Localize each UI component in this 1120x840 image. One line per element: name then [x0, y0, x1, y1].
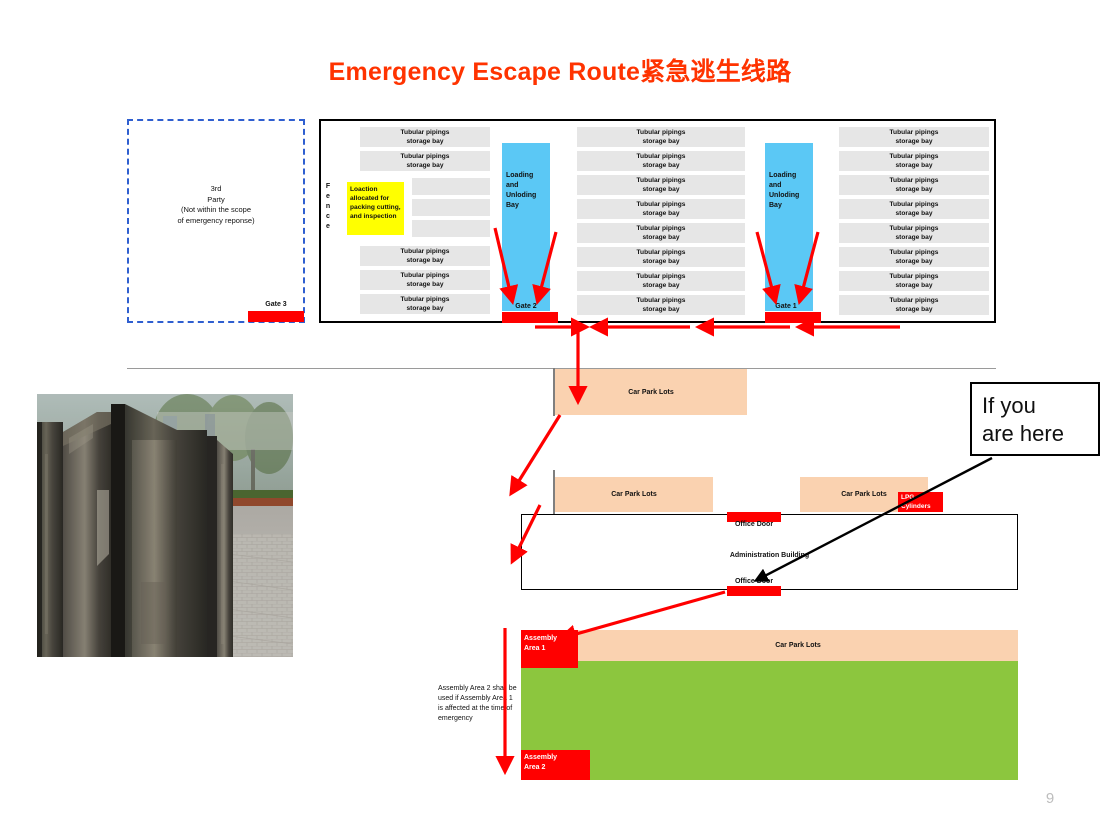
car-park-middle-left: Car Park Lots [555, 477, 713, 512]
you-are-here-callout: If you are here [970, 382, 1100, 456]
third-party-label: 3rd Party (Not within the scope of emerg… [127, 184, 305, 226]
car-park-label: Car Park Lots [841, 491, 887, 498]
fence-label: F e n c e [322, 182, 334, 232]
car-park-label: Car Park Lots [628, 389, 674, 396]
bay-label-line2: storage bay [895, 281, 932, 290]
assembly-area-1: Assembly Area 1 [521, 630, 578, 668]
storage-bay: Tubular pipings storage bay [360, 270, 490, 290]
bay-label-line1: Tubular pipings [401, 128, 450, 137]
bay-label-line1: Tubular pipings [890, 200, 939, 209]
car-park-bottom: Car Park Lots [578, 630, 1018, 661]
bay-label-line1: Tubular pipings [637, 200, 686, 209]
storage-bay: Tubular pipings storage bay [360, 151, 490, 171]
bay-label-line1: Tubular pipings [890, 152, 939, 161]
assembly-area-note: Assembly Area 2 shall be used if Assembl… [438, 684, 518, 724]
storage-bay: Tubular pipings storage bay [360, 127, 490, 147]
loading-bay-line4: Bay [506, 201, 546, 211]
bay-label-line2: storage bay [642, 305, 679, 314]
third-party-line-4: of emergency reponse) [127, 216, 305, 227]
bay-label-line2: storage bay [895, 161, 932, 170]
storage-bay: Tubular pipings storage bay [839, 151, 989, 171]
bay-label-line1: Tubular pipings [637, 296, 686, 305]
storage-bay: Tubular pipings storage bay [360, 294, 490, 314]
bay-label-line1: Tubular pipings [401, 271, 450, 280]
bay-label-line1: Tubular pipings [637, 152, 686, 161]
callout-line-2: are here [982, 420, 1098, 448]
bay-label-line1: Tubular pipings [890, 128, 939, 137]
bay-label-line1: Tubular pipings [890, 176, 939, 185]
gate-2-label: Gate 2 [502, 303, 550, 310]
bay-label-line1: Tubular pipings [401, 152, 450, 161]
car-park-label: Car Park Lots [611, 491, 657, 498]
loading-bay-line2: and [506, 181, 546, 191]
bay-label-line1: Tubular pipings [637, 176, 686, 185]
storage-bay: Tubular pipings storage bay [577, 127, 745, 147]
fence-letter-5: e [322, 222, 334, 232]
bay-label-line2: storage bay [895, 305, 932, 314]
bay-label-line2: storage bay [895, 185, 932, 194]
storage-bay: Tubular pipings storage bay [577, 199, 745, 219]
third-party-line-3: (Not within the scope [127, 205, 305, 216]
bay-label-line2: storage bay [642, 161, 679, 170]
bay-label-line2: storage bay [642, 281, 679, 290]
bay-label-line2: storage bay [406, 137, 443, 146]
assembly2-line1: Assembly [524, 753, 590, 763]
bay-label-line1: Tubular pipings [401, 295, 450, 304]
storage-bay: Tubular pipings storage bay [577, 175, 745, 195]
fence-letter-1: F [322, 182, 334, 192]
office-door-lower-label: Office Door [718, 578, 790, 585]
bay-label-line2: storage bay [895, 257, 932, 266]
lpg-cylinders-area: LPG Cylinders [898, 492, 943, 512]
storage-bay: Tubular pipings storage bay [839, 199, 989, 219]
car-park-top: Car Park Lots [555, 369, 747, 415]
lpg-line2: Cylinders [901, 502, 941, 511]
packing-cutting-inspection-zone: Loaction allocated for packing cutting, … [347, 182, 404, 235]
site-entrance-photo [37, 394, 293, 657]
loading-unloading-bay-2: Loading and Unloding Bay [502, 143, 550, 311]
gate-2-marker [502, 312, 558, 323]
storage-bay-blank [412, 220, 490, 237]
loading-bay-line1: Loading [506, 171, 546, 181]
bay-label-line2: storage bay [642, 209, 679, 218]
assembly1-line1: Assembly [524, 634, 578, 644]
loading-unloading-bay-1: Loading and Unloding Bay [765, 143, 813, 311]
gate-1-marker [765, 312, 821, 323]
car-park-label: Car Park Lots [775, 642, 821, 649]
bay-label-line2: storage bay [406, 280, 443, 289]
storage-bay: Tubular pipings storage bay [839, 175, 989, 195]
storage-bay: Tubular pipings storage bay [577, 295, 745, 315]
fence-letter-3: n [322, 202, 334, 212]
storage-bay: Tubular pipings storage bay [839, 127, 989, 147]
bay-label-line1: Tubular pipings [401, 247, 450, 256]
bay-label-line1: Tubular pipings [890, 272, 939, 281]
storage-bay: Tubular pipings storage bay [577, 247, 745, 267]
gate-3-label: Gate 3 [244, 301, 308, 308]
bay-label-line1: Tubular pipings [637, 272, 686, 281]
bay-label-line2: storage bay [642, 185, 679, 194]
storage-bay-blank [412, 178, 490, 195]
bay-label-line1: Tubular pipings [890, 248, 939, 257]
bay-label-line2: storage bay [406, 304, 443, 313]
bay-label-line2: storage bay [642, 233, 679, 242]
assembly-area-2: Assembly Area 2 [521, 750, 590, 780]
assembly2-line2: Area 2 [524, 763, 590, 773]
bay-label-line2: storage bay [895, 209, 932, 218]
office-door-upper-label: Office Door [718, 521, 790, 528]
bay-label-line2: storage bay [895, 233, 932, 242]
storage-bay: Tubular pipings storage bay [839, 271, 989, 291]
storage-bay: Tubular pipings storage bay [839, 295, 989, 315]
loading-bay-line3: Unloding [769, 191, 809, 201]
storage-bay: Tubular pipings storage bay [839, 247, 989, 267]
storage-bay-blank [412, 199, 490, 216]
storage-bay: Tubular pipings storage bay [577, 223, 745, 243]
lpg-line1: LPG [901, 493, 941, 502]
storage-bay: Tubular pipings storage bay [577, 151, 745, 171]
bay-label-line2: storage bay [642, 257, 679, 266]
storage-bay: Tubular pipings storage bay [839, 223, 989, 243]
bay-label-line1: Tubular pipings [637, 128, 686, 137]
administration-building-label: Administration Building [521, 552, 1018, 559]
grass-field [521, 660, 1018, 780]
bay-label-line2: storage bay [642, 137, 679, 146]
loading-bay-line2: and [769, 181, 809, 191]
page-title: Emergency Escape Route紧急逃生线路 [0, 52, 1120, 88]
third-party-line-2: Party [127, 195, 305, 206]
loading-bay-line3: Unloding [506, 191, 546, 201]
page-number: 9 [1030, 790, 1070, 807]
storage-bay: Tubular pipings storage bay [577, 271, 745, 291]
bay-label-line2: storage bay [406, 256, 443, 265]
third-party-line-1: 3rd [127, 184, 305, 195]
storage-bay: Tubular pipings storage bay [360, 246, 490, 266]
loading-bay-line4: Bay [769, 201, 809, 211]
bay-label-line2: storage bay [406, 161, 443, 170]
loading-bay-line1: Loading [769, 171, 809, 181]
assembly1-line2: Area 1 [524, 644, 578, 654]
bay-label-line1: Tubular pipings [637, 248, 686, 257]
fence-letter-4: c [322, 212, 334, 222]
bay-label-line1: Tubular pipings [637, 224, 686, 233]
office-door-lower-marker [727, 586, 781, 596]
gate-1-label: Gate 1 [762, 303, 810, 310]
bay-label-line1: Tubular pipings [890, 224, 939, 233]
bay-label-line2: storage bay [895, 137, 932, 146]
fence-letter-2: e [322, 192, 334, 202]
gate-3-marker [248, 311, 304, 322]
bay-label-line1: Tubular pipings [890, 296, 939, 305]
callout-line-1: If you [982, 392, 1098, 420]
